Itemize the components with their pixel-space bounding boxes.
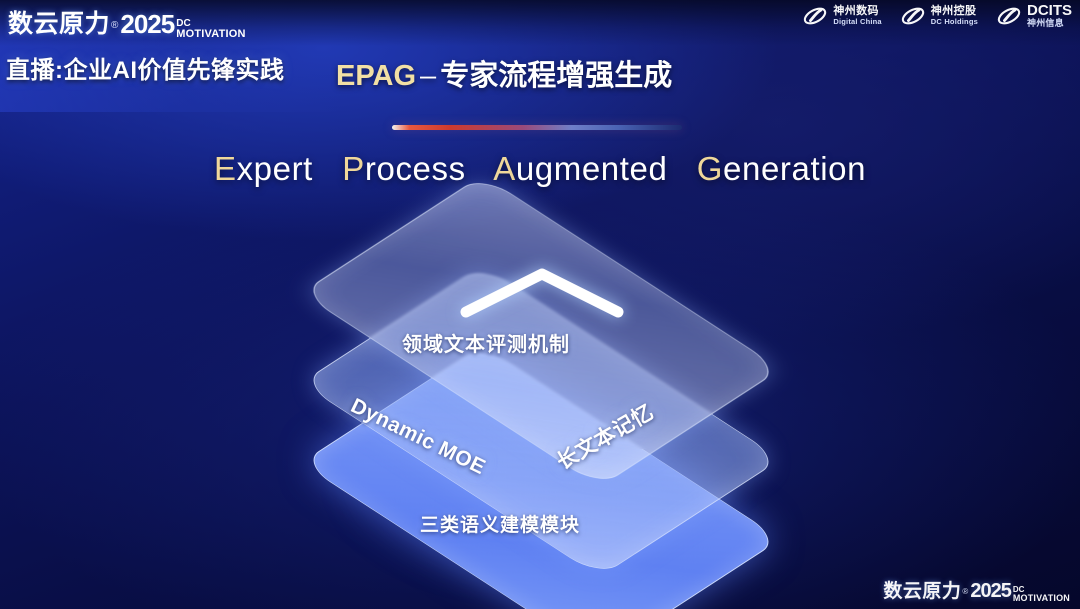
page-title-dash: – <box>416 60 440 92</box>
brand-logo-motivation: MOTIVATION <box>176 29 245 40</box>
chevron-up-icon <box>456 262 628 322</box>
page-title: EPAG–专家流程增强生成 <box>336 52 672 94</box>
partner-logo-dc-holdings: 神州控股 DC Holdings <box>900 3 978 29</box>
layered-architecture-diagram: 领域文本评测机制 Dynamic MOE 长文本记忆 三类语义建模模块 <box>260 218 820 578</box>
live-stream-strap: 直播:企业AI价值先锋实践 <box>6 50 285 85</box>
subtitle: Expert Process Augmented Generation <box>0 150 1080 188</box>
subtitle-word-process: Process <box>342 150 465 187</box>
partner-logo-digital-china: 神州数码 Digital China <box>802 3 881 29</box>
page-title-chinese: 专家流程增强生成 <box>440 60 672 92</box>
partner-name-en: DCITS <box>1027 3 1072 19</box>
brand-watermark-motivation: MOTIVATION <box>1013 594 1070 603</box>
subtitle-space <box>323 150 333 187</box>
subtitle-rest: rocess <box>365 150 466 187</box>
subtitle-initial: P <box>342 150 365 187</box>
partner-name-en: DC Holdings <box>931 18 978 26</box>
brand-logo: 数云原力 ® 2025 DC MOTIVATION <box>8 4 246 40</box>
slide-canvas: 数云原力 ® 2025 DC MOTIVATION 直播:企业AI价值先锋实践 … <box>0 0 1080 609</box>
partner-logo-dcits: DCITS 神州信息 <box>996 3 1072 29</box>
swirl-icon <box>900 3 926 29</box>
subtitle-initial: G <box>697 150 723 187</box>
subtitle-word-generation: Generation <box>697 150 866 187</box>
subtitle-rest: eneration <box>723 150 866 187</box>
brand-watermark-cn: 数云原力 <box>883 576 961 603</box>
subtitle-word-augmented: Augmented <box>493 150 667 187</box>
swirl-icon <box>996 3 1022 29</box>
subtitle-word-expert: Expert <box>214 150 313 187</box>
partner-logo-row: 神州数码 Digital China 神州控股 DC Holdings <box>802 3 1072 29</box>
brand-logo-cn: 数云原力 <box>8 4 110 40</box>
subtitle-rest: ugmented <box>516 150 668 187</box>
brand-logo-registered: ® <box>111 20 118 31</box>
brand-watermark-year: 2025 <box>970 580 1011 603</box>
brand-logo-year: 2025 <box>120 9 174 40</box>
subtitle-initial: A <box>493 150 516 187</box>
partner-name-en: Digital China <box>833 18 881 26</box>
partner-name-cn: 神州信息 <box>1027 19 1072 29</box>
subtitle-initial: E <box>214 150 237 187</box>
subtitle-space <box>677 150 687 187</box>
swirl-icon <box>802 3 828 29</box>
brand-watermark-registered: ® <box>962 587 968 596</box>
subtitle-space <box>475 150 485 187</box>
brand-watermark: 数云原力 ® 2025 DC MOTIVATION <box>883 576 1070 603</box>
page-title-acronym: EPAG <box>336 60 416 92</box>
title-divider <box>392 125 682 130</box>
subtitle-rest: xpert <box>237 150 313 187</box>
